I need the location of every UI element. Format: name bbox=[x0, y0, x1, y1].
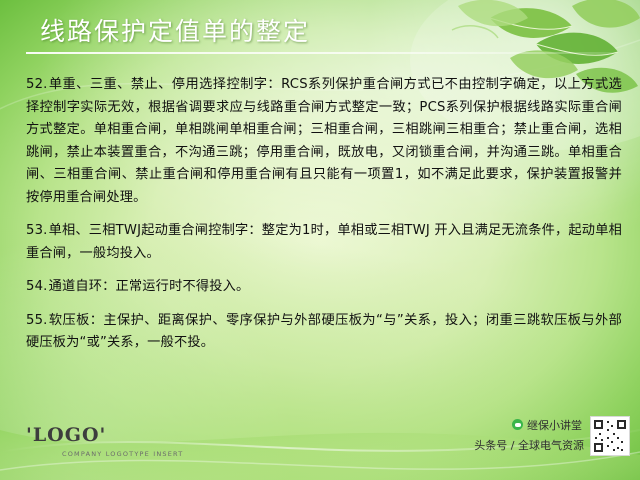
paragraph-number: 54. bbox=[26, 279, 48, 294]
page-title: 线路保护定值单的整定 bbox=[40, 12, 310, 48]
title-divider bbox=[26, 52, 616, 54]
watermark-account-label: 继保小讲堂 bbox=[527, 419, 582, 432]
body-paragraph: 53.单相、三相TWJ起动重合闸控制字：整定为1时，单相或三相TWJ 开入且满足… bbox=[26, 220, 622, 265]
slide-header: 线路保护定值单的整定 bbox=[0, 0, 640, 62]
body-paragraph: 55.软压板：主保护、距离保护、零序保护与外部硬压板为“与”关系，投入；闭重三跳… bbox=[26, 310, 622, 355]
paragraph-number: 55. bbox=[26, 313, 48, 328]
paragraph-text: 单相、三相TWJ起动重合闸控制字：整定为1时，单相或三相TWJ 开入且满足无流条… bbox=[26, 223, 622, 261]
paragraph-number: 53. bbox=[26, 223, 48, 238]
watermark-account: 继保小讲堂 bbox=[512, 417, 582, 433]
logo-subtext: COMPANY LOGOTYPE INSERT bbox=[62, 450, 183, 458]
paragraph-text: 软压板：主保护、距离保护、零序保护与外部硬压板为“与”关系，投入；闭重三跳软压板… bbox=[26, 313, 622, 351]
watermark-source: 头条号 / 全球电气资源 bbox=[474, 437, 584, 453]
logo-placeholder: 'LOGO' bbox=[26, 424, 106, 446]
wechat-icon bbox=[512, 419, 523, 430]
body-paragraph: 52.单重、三重、禁止、停用选择控制字：RCS系列保护重合闸方式已不由控制字确定… bbox=[26, 74, 622, 209]
paragraph-text: 单重、三重、禁止、停用选择控制字：RCS系列保护重合闸方式已不由控制字确定，以上… bbox=[26, 77, 622, 205]
body-paragraph: 54.通道自环：正常运行时不得投入。 bbox=[26, 276, 622, 299]
paragraph-text: 通道自环：正常运行时不得投入。 bbox=[49, 279, 250, 294]
qr-code bbox=[590, 416, 630, 456]
slide-root: 线路保护定值单的整定 52.单重、三重、禁止、停用选择控制字：RCS系列保护重合… bbox=[0, 0, 640, 480]
paragraph-number: 52. bbox=[26, 77, 48, 92]
slide-body: 52.单重、三重、禁止、停用选择控制字：RCS系列保护重合闸方式已不由控制字确定… bbox=[26, 74, 622, 366]
